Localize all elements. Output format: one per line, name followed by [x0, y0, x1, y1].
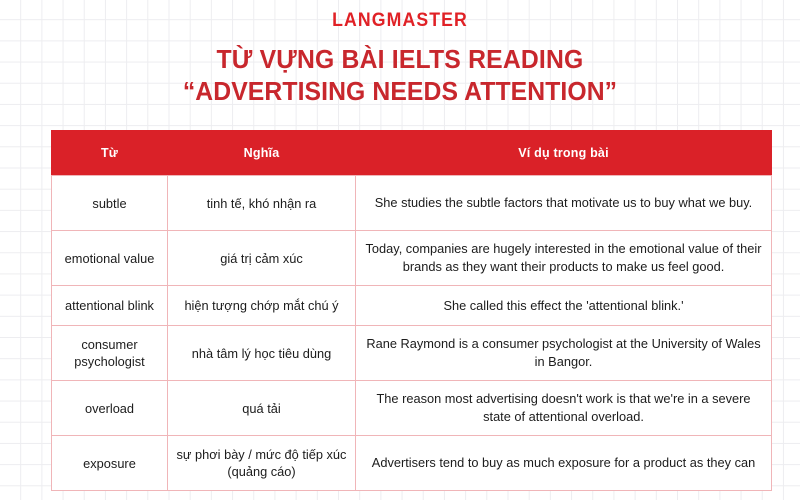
table-row: attentional blink hiện tượng chớp mắt ch… [52, 286, 772, 326]
vocabulary-table: Từ Nghĩa Ví dụ trong bài subtle tinh tế,… [51, 130, 772, 491]
cell-meaning: hiện tượng chớp mắt chú ý [168, 286, 356, 326]
infographic-page: LANGMASTER TỪ VỰNG BÀI IELTS READING “AD… [0, 0, 800, 500]
cell-term: overload [52, 381, 168, 436]
column-header-term: Từ [52, 131, 168, 176]
page-title: TỪ VỰNG BÀI IELTS READING “ADVERTISING N… [0, 44, 800, 108]
table-row: consumer psychologist nhà tâm lý học tiê… [52, 326, 772, 381]
cell-example: Advertisers tend to buy as much exposure… [356, 436, 772, 491]
cell-example: Today, companies are hugely interested i… [356, 231, 772, 286]
cell-meaning: quá tải [168, 381, 356, 436]
cell-meaning: giá trị cảm xúc [168, 231, 356, 286]
table-row: exposure sự phơi bày / mức độ tiếp xúc (… [52, 436, 772, 491]
table-row: subtle tinh tế, khó nhận ra She studies … [52, 176, 772, 231]
cell-term: subtle [52, 176, 168, 231]
cell-example: She studies the subtle factors that moti… [356, 176, 772, 231]
table-body: subtle tinh tế, khó nhận ra She studies … [52, 176, 772, 491]
cell-example: The reason most advertising doesn't work… [356, 381, 772, 436]
cell-meaning: nhà tâm lý học tiêu dùng [168, 326, 356, 381]
table-header-row: Từ Nghĩa Ví dụ trong bài [52, 131, 772, 176]
cell-example: She called this effect the 'attentional … [356, 286, 772, 326]
cell-term: attentional blink [52, 286, 168, 326]
cell-term: consumer psychologist [52, 326, 168, 381]
title-line-2: “ADVERTISING NEEDS ATTENTION” [12, 76, 788, 108]
column-header-meaning: Nghĩa [168, 131, 356, 176]
cell-meaning: sự phơi bày / mức độ tiếp xúc (quảng cáo… [168, 436, 356, 491]
langmaster-logo: LANGMASTER [28, 10, 772, 32]
table-row: emotional value giá trị cảm xúc Today, c… [52, 231, 772, 286]
table-header: Từ Nghĩa Ví dụ trong bài [52, 131, 772, 176]
cell-meaning: tinh tế, khó nhận ra [168, 176, 356, 231]
title-line-1: TỪ VỰNG BÀI IELTS READING [12, 44, 788, 76]
table-row: overload quá tải The reason most adverti… [52, 381, 772, 436]
cell-term: exposure [52, 436, 168, 491]
cell-term: emotional value [52, 231, 168, 286]
column-header-example: Ví dụ trong bài [356, 131, 772, 176]
cell-example: Rane Raymond is a consumer psychologist … [356, 326, 772, 381]
